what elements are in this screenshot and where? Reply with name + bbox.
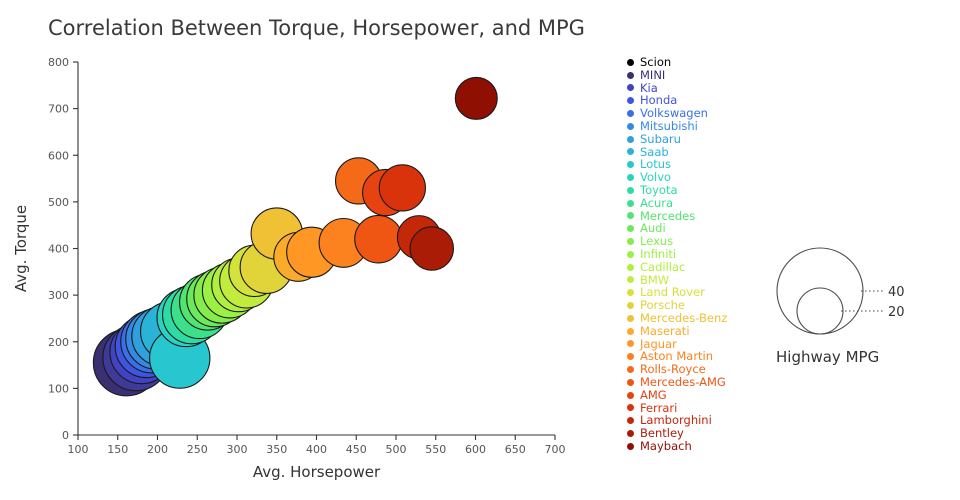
- legend-swatch-icon: [627, 84, 634, 91]
- x-tick-label: 500: [386, 443, 407, 456]
- size-circle-40: [777, 248, 863, 334]
- data-point[interactable]: [379, 165, 425, 211]
- x-tick-label: 600: [465, 443, 486, 456]
- legend-swatch-icon: [627, 212, 634, 219]
- legend-swatch-icon: [627, 161, 634, 168]
- legend-swatch-icon: [627, 302, 634, 309]
- legend-swatch-icon: [627, 264, 634, 271]
- legend-swatch-icon: [627, 315, 634, 322]
- x-tick-label: 100: [68, 443, 89, 456]
- legend-swatch-icon: [627, 148, 634, 155]
- y-axis-title: Avg. Torque: [12, 205, 30, 292]
- legend-item-label: AMG: [640, 389, 667, 402]
- data-point[interactable]: [410, 227, 453, 270]
- legend-item[interactable]: Bentley: [627, 427, 757, 440]
- legend-item[interactable]: Cadillac: [627, 261, 757, 274]
- y-tick-label: 100: [48, 382, 69, 395]
- legend-item[interactable]: Rolls-Royce: [627, 363, 757, 376]
- size-circle-20: [797, 288, 843, 334]
- chart-root: Correlation Between Torque, Horsepower, …: [0, 0, 960, 500]
- legend-item[interactable]: Acura: [627, 197, 757, 210]
- size-legend-title: Highway MPG: [776, 348, 956, 366]
- size-legend-value: 20: [888, 305, 905, 320]
- legend-item-label: Mercedes-AMG: [640, 376, 726, 389]
- legend-swatch-icon: [627, 59, 634, 66]
- legend-swatch-icon: [627, 392, 634, 399]
- x-tick-label: 550: [425, 443, 446, 456]
- legend-swatch-icon: [627, 97, 634, 104]
- data-point[interactable]: [355, 215, 403, 263]
- legend-item[interactable]: Subaru: [627, 133, 757, 146]
- x-tick-label: 700: [545, 443, 566, 456]
- legend-swatch-icon: [627, 110, 634, 117]
- legend-swatch-icon: [627, 238, 634, 245]
- legend-swatch-icon: [627, 123, 634, 130]
- legend-swatch-icon: [627, 72, 634, 79]
- legend-item[interactable]: Mercedes-AMG: [627, 376, 757, 389]
- legend-item[interactable]: Maserati: [627, 325, 757, 338]
- legend-swatch-icon: [627, 225, 634, 232]
- legend-item-label: Bentley: [640, 427, 684, 440]
- y-tick-label: 700: [48, 103, 69, 116]
- legend-swatch-icon: [627, 379, 634, 386]
- legend-item-label: Subaru: [640, 133, 681, 146]
- x-tick-label: 450: [346, 443, 367, 456]
- x-tick-label: 300: [227, 443, 248, 456]
- legend-item-label: MINI: [640, 69, 665, 82]
- legend-item[interactable]: Maybach: [627, 440, 757, 453]
- legend-swatch-icon: [627, 200, 634, 207]
- legend-swatch-icon: [627, 443, 634, 450]
- legend-item[interactable]: MINI: [627, 69, 757, 82]
- legend-swatch-icon: [627, 340, 634, 347]
- plot-svg: 0100200300400500600700800100150200250300…: [0, 0, 620, 500]
- legend-swatch-icon: [627, 276, 634, 283]
- x-tick-label: 250: [187, 443, 208, 456]
- legend-swatch-icon: [627, 328, 634, 335]
- y-tick-label: 800: [48, 56, 69, 69]
- legend-swatch-icon: [627, 251, 634, 258]
- x-axis-title: Avg. Horsepower: [253, 463, 381, 481]
- x-tick-label: 650: [505, 443, 526, 456]
- legend-item-label: Rolls-Royce: [640, 363, 706, 376]
- x-tick-label: 150: [107, 443, 128, 456]
- legend-swatch-icon: [627, 187, 634, 194]
- size-legend: 4020 Highway MPG: [770, 238, 955, 383]
- legend-swatch-icon: [627, 430, 634, 437]
- y-tick-label: 600: [48, 149, 69, 162]
- legend-swatch-icon: [627, 366, 634, 373]
- legend-item-label: Mercedes-Benz: [640, 312, 727, 325]
- legend-swatch-icon: [627, 289, 634, 296]
- legend-swatch-icon: [627, 174, 634, 181]
- size-legend-svg: 4020: [770, 238, 955, 353]
- legend-item-label: Acura: [640, 197, 673, 210]
- legend-item-label: Scion: [640, 56, 671, 69]
- legend-item[interactable]: Scion: [627, 56, 757, 69]
- x-tick-label: 400: [306, 443, 327, 456]
- legend-swatch-icon: [627, 417, 634, 424]
- legend-swatch-icon: [627, 353, 634, 360]
- y-tick-label: 300: [48, 289, 69, 302]
- data-point[interactable]: [455, 77, 497, 119]
- legend-item[interactable]: Mitsubishi: [627, 120, 757, 133]
- y-tick-label: 500: [48, 196, 69, 209]
- legend-item-label: Mitsubishi: [640, 120, 698, 133]
- legend-item-label: Toyota: [640, 184, 678, 197]
- legend-item[interactable]: AMG: [627, 389, 757, 402]
- legend-swatch-icon: [627, 136, 634, 143]
- legend-item-label: Infiniti: [640, 248, 676, 261]
- plot-area: 0100200300400500600700800100150200250300…: [0, 0, 620, 500]
- legend-item[interactable]: Mercedes-Benz: [627, 312, 757, 325]
- legend-item[interactable]: Infiniti: [627, 248, 757, 261]
- legend-item-label: Maserati: [640, 325, 690, 338]
- legend-swatch-icon: [627, 404, 634, 411]
- y-tick-label: 400: [48, 243, 69, 256]
- size-legend-value: 40: [888, 285, 905, 300]
- x-tick-label: 200: [147, 443, 168, 456]
- y-tick-label: 200: [48, 336, 69, 349]
- y-tick-label: 0: [62, 429, 69, 442]
- legend-item-label: Cadillac: [640, 261, 685, 274]
- x-tick-label: 350: [266, 443, 287, 456]
- legend-item[interactable]: Toyota: [627, 184, 757, 197]
- legend-item-label: Maybach: [640, 440, 692, 453]
- color-legend[interactable]: ScionMINIKiaHondaVolkswagenMitsubishiSub…: [627, 56, 757, 453]
